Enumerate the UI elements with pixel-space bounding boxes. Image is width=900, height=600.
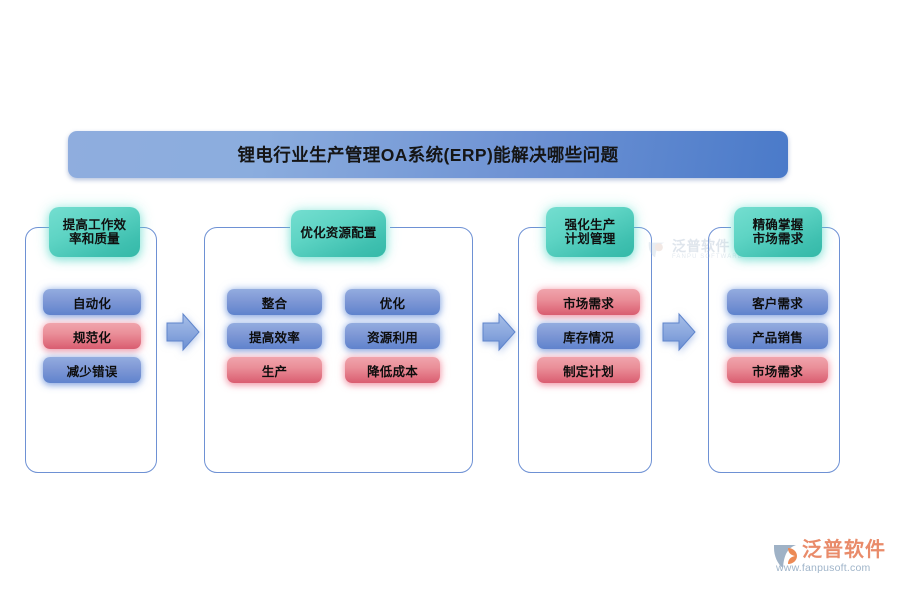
diagram-title-banner: 锂电行业生产管理OA系统(ERP)能解决哪些问题	[68, 131, 788, 178]
column-container-4	[708, 227, 840, 473]
column-header-2: 优化资源配置	[291, 210, 386, 257]
item-pill-1-2[interactable]: 规范化	[43, 323, 141, 349]
diagram-canvas: 锂电行业生产管理OA系统(ERP)能解决哪些问题 提高工作效率和质量 自动化 规…	[0, 0, 900, 600]
column-header-label-3: 强化生产计划管理	[565, 218, 616, 247]
item-pill-2-5[interactable]: 资源利用	[345, 323, 440, 349]
brand-url: www.fanpusoft.com	[776, 562, 886, 575]
item-pill-2-2[interactable]: 提高效率	[227, 323, 322, 349]
flow-arrow-right-3	[662, 312, 696, 352]
item-pill-4-3[interactable]: 市场需求	[727, 357, 828, 383]
item-pill-3-2[interactable]: 库存情况	[537, 323, 640, 349]
column-header-4: 精确掌握市场需求	[734, 207, 822, 257]
column-header-1: 提高工作效率和质量	[49, 207, 140, 257]
item-pill-1-3[interactable]: 减少错误	[43, 357, 141, 383]
item-pill-2-6[interactable]: 降低成本	[345, 357, 440, 383]
column-header-3: 强化生产计划管理	[546, 207, 634, 257]
item-pill-2-1[interactable]: 整合	[227, 289, 322, 315]
flow-arrow-right-2	[482, 312, 516, 352]
item-pill-3-1[interactable]: 市场需求	[537, 289, 640, 315]
item-pill-4-1[interactable]: 客户需求	[727, 289, 828, 315]
column-header-label-4: 精确掌握市场需求	[753, 218, 804, 247]
page-title: 锂电行业生产管理OA系统(ERP)能解决哪些问题	[238, 142, 619, 167]
brand-name: 泛普软件	[802, 540, 886, 561]
column-container-2	[204, 227, 473, 473]
column-container-1	[25, 227, 157, 473]
flow-arrow-right-1	[166, 312, 200, 352]
item-pill-3-3[interactable]: 制定计划	[537, 357, 640, 383]
column-container-3	[518, 227, 652, 473]
item-pill-2-4[interactable]: 优化	[345, 289, 440, 315]
item-pill-1-1[interactable]: 自动化	[43, 289, 141, 315]
column-header-label-2: 优化资源配置	[300, 226, 376, 241]
brand-logo: 泛普软件 www.fanpusoft.com	[772, 540, 894, 586]
column-header-label-1: 提高工作效率和质量	[63, 218, 127, 247]
item-pill-2-3[interactable]: 生产	[227, 357, 322, 383]
item-pill-4-2[interactable]: 产品销售	[727, 323, 828, 349]
